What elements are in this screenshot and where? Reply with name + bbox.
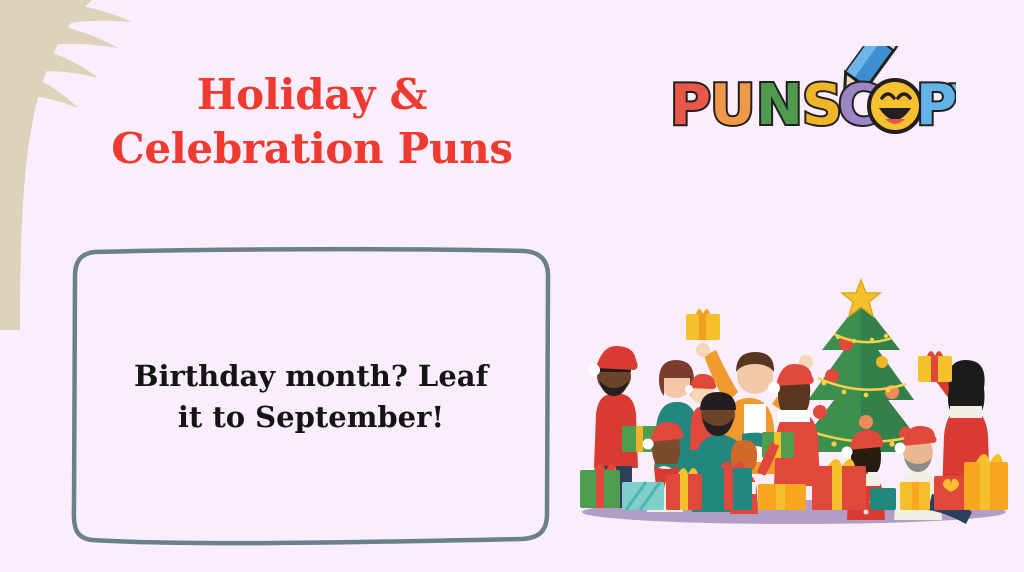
logo-letter-n: N	[756, 73, 803, 138]
logo-letter-p1: P	[670, 73, 711, 138]
bauble	[859, 415, 873, 429]
logo-letter-u: U	[710, 73, 755, 138]
logo-letter-p2: P	[916, 73, 956, 138]
gift-box-held	[918, 351, 952, 382]
title-line-2: Celebration Puns	[52, 122, 572, 176]
bauble	[876, 356, 888, 368]
bauble	[813, 405, 827, 419]
pun-text-line-1: Birthday month? Leaf	[134, 359, 488, 393]
logo-letter-y: Y	[951, 74, 956, 137]
logo-letter-s: S	[802, 73, 842, 138]
laughing-smiley-face	[869, 80, 921, 132]
santa-hat	[596, 346, 638, 370]
pun-card: Birthday month? Leaf it to September!	[70, 246, 552, 548]
title-line-1: Holiday &	[52, 68, 572, 122]
slide-canvas: Holiday & Celebration Puns .bl { font-fa…	[0, 0, 1024, 572]
gift-box	[934, 476, 968, 510]
pun-text-line-2: it to September!	[178, 400, 444, 434]
brand-logo[interactable]: .bl { font-family: "DejaVu Sans", sans-s…	[666, 46, 956, 146]
page-title: Holiday & Celebration Puns	[52, 68, 572, 176]
gift-box-lifted	[686, 309, 720, 340]
family-christmas-illustration	[566, 276, 1014, 532]
pun-text: Birthday month? Leaf it to September!	[110, 356, 512, 438]
gift-box	[870, 488, 896, 510]
